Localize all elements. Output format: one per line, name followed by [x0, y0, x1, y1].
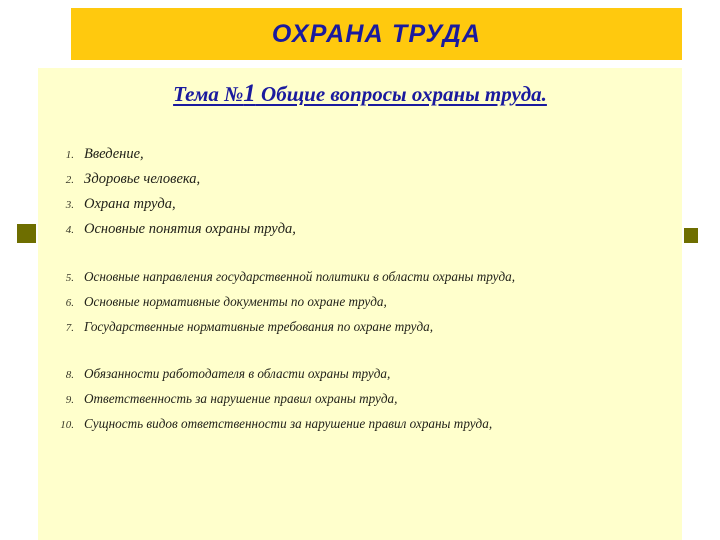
- list-item-number: 2.: [38, 168, 74, 193]
- list-item: 7. Государственные нормативные требовани…: [38, 314, 682, 339]
- list-item-label: Обязанности работодателя в области охран…: [74, 361, 390, 386]
- list-item-number: 8.: [38, 363, 74, 388]
- list-item-number: 5.: [38, 266, 74, 291]
- list-item: 4. Основные понятия охраны труда,: [38, 217, 682, 242]
- title-banner: ОХРАНА ТРУДА: [71, 8, 682, 60]
- list-item-label: Государственные нормативные требования п…: [74, 314, 433, 339]
- subtitle-heading: Тема №1 Общие вопросы охраны труда.: [173, 80, 547, 108]
- list-item: 2. Здоровье человека,: [38, 167, 682, 192]
- list-item: 1. Введение,: [38, 142, 682, 167]
- list-item-number: 1.: [38, 143, 74, 168]
- list-item: 5. Основные направления государственной …: [38, 264, 682, 289]
- subtitle-prefix: Тема №: [173, 82, 243, 106]
- agenda-list: 1. Введение, 2. Здоровье человека, 3. Ох…: [38, 142, 682, 436]
- list-item-label: Сущность видов ответственности за наруше…: [74, 411, 492, 436]
- olive-square-marker-right-icon: [684, 228, 698, 243]
- list-item-number: 7.: [38, 316, 74, 341]
- list-item-number: 10.: [38, 413, 74, 438]
- list-item-label: Основные понятия охраны труда,: [74, 217, 296, 242]
- list-item-label: Охрана труда,: [74, 192, 176, 217]
- list-item-number: 9.: [38, 388, 74, 413]
- list-item-label: Введение,: [74, 142, 144, 167]
- olive-square-marker-left-icon: [17, 224, 36, 243]
- list-item: 8. Обязанности работодателя в области ох…: [38, 361, 682, 386]
- page-title: ОХРАНА ТРУДА: [272, 22, 481, 47]
- list-item-label: Ответственность за нарушение правил охра…: [74, 386, 397, 411]
- list-item-label: Здоровье человека,: [74, 167, 200, 192]
- list-item-number: 6.: [38, 291, 74, 316]
- list-item-label: Основные нормативные документы по охране…: [74, 289, 387, 314]
- slide-canvas: ОХРАНА ТРУДА Тема №1 Общие вопросы охран…: [0, 0, 720, 540]
- list-item: 10. Сущность видов ответственности за на…: [38, 411, 682, 436]
- list-group-spacer: [38, 339, 682, 361]
- list-item-number: 3.: [38, 193, 74, 218]
- list-item-label: Основные направления государственной пол…: [74, 264, 515, 289]
- list-item: 9. Ответственность за нарушение правил о…: [38, 386, 682, 411]
- subtitle-row: Тема №1 Общие вопросы охраны труда.: [38, 80, 682, 108]
- list-item-number: 4.: [38, 218, 74, 243]
- subtitle-topic-number: 1: [243, 80, 256, 107]
- list-item: 6. Основные нормативные документы по охр…: [38, 289, 682, 314]
- list-item: 3. Охрана труда,: [38, 192, 682, 217]
- list-group-spacer: [38, 242, 682, 264]
- subtitle-suffix: Общие вопросы охраны труда.: [256, 82, 547, 106]
